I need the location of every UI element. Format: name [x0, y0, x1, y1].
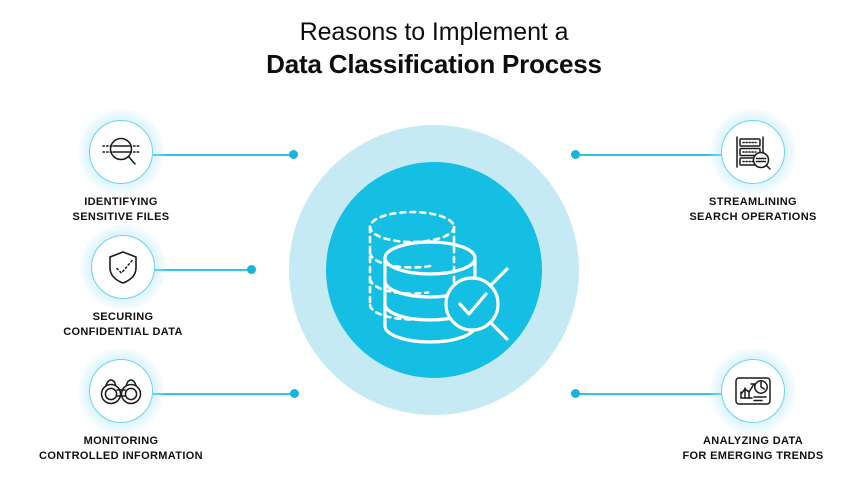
title-line-1: Reasons to Implement a: [0, 16, 868, 48]
badge-analyzing-data-for-emerging-trends[interactable]: [721, 359, 785, 423]
label-line-1: IDENTIFYING: [84, 196, 158, 208]
node-dot-streamlining-search-operations: [571, 150, 580, 159]
analytics-chart-icon: [734, 375, 772, 407]
binoculars-icon: [100, 376, 142, 406]
page-title: Reasons to Implement a Data Classificati…: [0, 16, 868, 82]
label-line-2: CONTROLLED INFORMATION: [6, 449, 236, 464]
node-dot-analyzing-data-for-emerging-trends: [571, 389, 580, 398]
spoke-label-streamlining-search-operations: STREAMLINING SEARCH OPERATIONS: [638, 195, 868, 224]
badge-circle[interactable]: [89, 120, 153, 184]
spoke-label-securing-confidential-data: SECURING CONFIDENTIAL DATA: [8, 310, 238, 339]
infographic-canvas: Reasons to Implement a Data Classificati…: [0, 0, 868, 489]
label-line-1: SECURING: [93, 311, 154, 323]
label-line-2: SENSITIVE FILES: [6, 210, 236, 225]
badge-securing-confidential-data[interactable]: [91, 235, 155, 299]
server-magnifier-icon: [734, 133, 772, 171]
title-line-2: Data Classification Process: [0, 48, 868, 82]
badge-circle[interactable]: [721, 120, 785, 184]
label-line-1: ANALYZING DATA: [703, 435, 803, 447]
badge-streamlining-search-operations[interactable]: [721, 120, 785, 184]
spoke-streamlining-search-operations[interactable]: STREAMLINING SEARCH OPERATIONS: [638, 120, 868, 224]
node-dot-securing-confidential-data: [247, 265, 256, 274]
spoke-label-monitoring-controlled-information: MONITORING CONTROLLED INFORMATION: [6, 434, 236, 463]
spoke-monitoring-controlled-information[interactable]: MONITORING CONTROLLED INFORMATION: [6, 359, 236, 463]
node-dot-identifying-sensitive-files: [289, 150, 298, 159]
label-line-1: MONITORING: [84, 435, 159, 447]
badge-circle[interactable]: [721, 359, 785, 423]
magnifier-document-lines-icon: [101, 133, 141, 171]
shield-check-icon: [106, 248, 140, 286]
badge-identifying-sensitive-files[interactable]: [89, 120, 153, 184]
label-line-1: STREAMLINING: [709, 196, 797, 208]
spoke-identifying-sensitive-files[interactable]: IDENTIFYING SENSITIVE FILES: [6, 120, 236, 224]
badge-circle[interactable]: [89, 359, 153, 423]
spoke-securing-confidential-data[interactable]: SECURING CONFIDENTIAL DATA: [8, 235, 238, 339]
spoke-analyzing-data-for-emerging-trends[interactable]: ANALYZING DATA FOR EMERGING TRENDS: [638, 359, 868, 463]
database-verified-icon: [352, 190, 516, 350]
label-line-2: FOR EMERGING TRENDS: [638, 449, 868, 464]
badge-circle[interactable]: [91, 235, 155, 299]
label-line-2: CONFIDENTIAL DATA: [8, 325, 238, 340]
badge-monitoring-controlled-information[interactable]: [89, 359, 153, 423]
spoke-label-analyzing-data-for-emerging-trends: ANALYZING DATA FOR EMERGING TRENDS: [638, 434, 868, 463]
label-line-2: SEARCH OPERATIONS: [638, 210, 868, 225]
spoke-label-identifying-sensitive-files: IDENTIFYING SENSITIVE FILES: [6, 195, 236, 224]
node-dot-monitoring-controlled-information: [290, 389, 299, 398]
